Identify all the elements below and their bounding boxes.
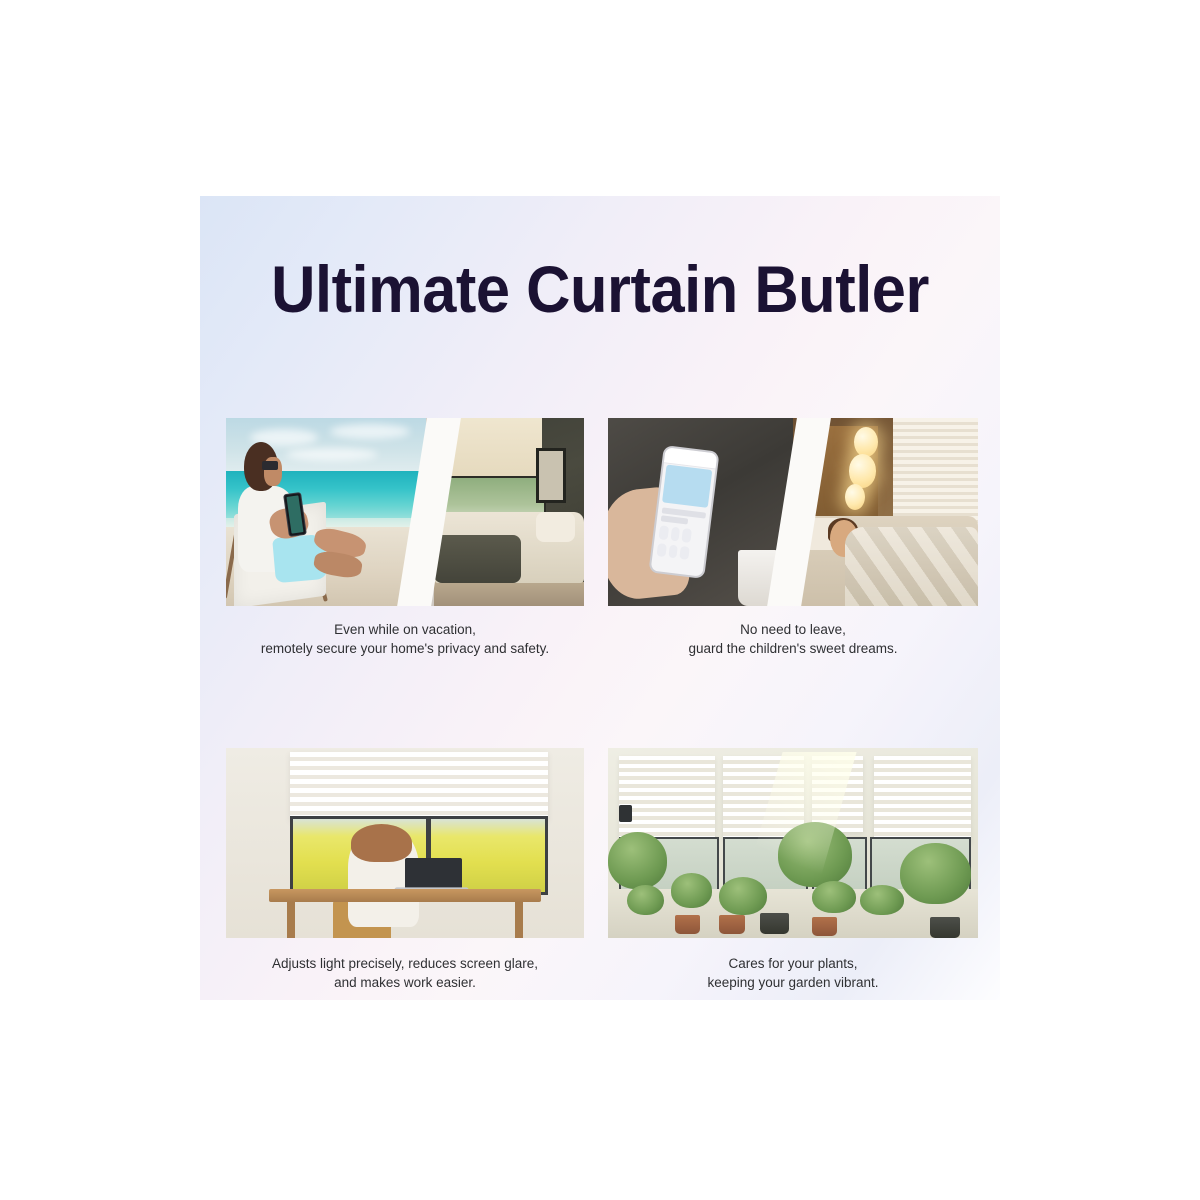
promo-card: Ultimate Curtain Butler <box>200 196 1000 1000</box>
beach-traveler-and-bedroom-shades-image <box>226 418 584 606</box>
feature-cell-work-light: Adjusts light precisely, reduces screen … <box>226 748 584 992</box>
feature-row-2: Adjusts light precisely, reduces screen … <box>226 748 978 992</box>
feature-caption: Even while on vacation, remotely secure … <box>261 620 549 658</box>
feature-caption: Adjusts light precisely, reduces screen … <box>272 954 538 992</box>
page-title: Ultimate Curtain Butler <box>228 252 972 326</box>
phone-app-and-sleeping-child-image <box>608 418 978 606</box>
feature-row-1: Even while on vacation, remotely secure … <box>226 418 978 658</box>
feature-caption: Cares for your plants, keeping your gard… <box>707 954 878 992</box>
feature-cell-plant-care: Cares for your plants, keeping your gard… <box>608 748 978 992</box>
page-root: Ultimate Curtain Butler <box>0 0 1200 1200</box>
window-latch-icon <box>619 805 632 822</box>
woman-working-at-desk-by-window-image <box>226 748 584 938</box>
title-block: Ultimate Curtain Butler <box>200 252 1000 326</box>
feature-cell-vacation-privacy: Even while on vacation, remotely secure … <box>226 418 584 658</box>
feature-caption: No need to leave, guard the children's s… <box>689 620 898 658</box>
sunlit-indoor-garden-with-blinds-image <box>608 748 978 938</box>
feature-grid: Even while on vacation, remotely secure … <box>226 418 978 992</box>
feature-cell-children-sleep: No need to leave, guard the children's s… <box>608 418 978 658</box>
